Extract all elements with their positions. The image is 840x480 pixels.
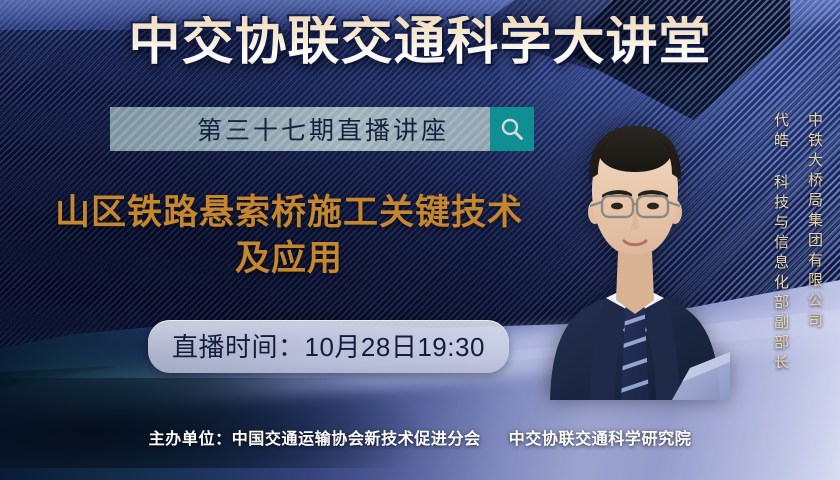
lecture-poster: 中交协联交通科学大讲堂 第三十七期直播讲座 山区铁路悬索桥施工关键技术 及应用 …	[0, 0, 840, 480]
silk-ribbon-shadow	[0, 378, 540, 468]
lecture-title: 山区铁路悬索桥施工关键技术 及应用	[24, 190, 554, 281]
footer-organizer-1: 中国交通运输协会新技术促进分会	[232, 431, 481, 448]
lecture-title-line-1: 山区铁路悬索桥施工关键技术	[55, 193, 523, 232]
episode-banner-label: 第三十七期直播讲座	[151, 111, 449, 147]
footer-organizer-2: 中交协联交通科学研究院	[509, 431, 692, 448]
search-button[interactable]	[490, 107, 534, 151]
search-icon	[499, 116, 525, 142]
speaker-portrait	[540, 100, 730, 400]
footer-organizers: 主办单位：中国交通运输协会新技术促进分会中交协联交通科学研究院	[0, 425, 840, 449]
speaker-name-and-role: 代皓 科技与信息化部副部长	[773, 112, 788, 374]
speaker-organization: 中铁大桥局集团有限公司	[807, 112, 822, 332]
lecture-title-line-2: 及应用	[24, 236, 554, 282]
footer-prefix: 主办单位：	[149, 431, 232, 448]
broadcast-time-badge: 直播时间：10月28日19:30	[148, 320, 509, 373]
episode-banner: 第三十七期直播讲座	[110, 107, 534, 151]
episode-banner-bar: 第三十七期直播讲座	[110, 107, 490, 151]
page-title: 中交协联交通科学大讲堂	[0, 16, 840, 68]
